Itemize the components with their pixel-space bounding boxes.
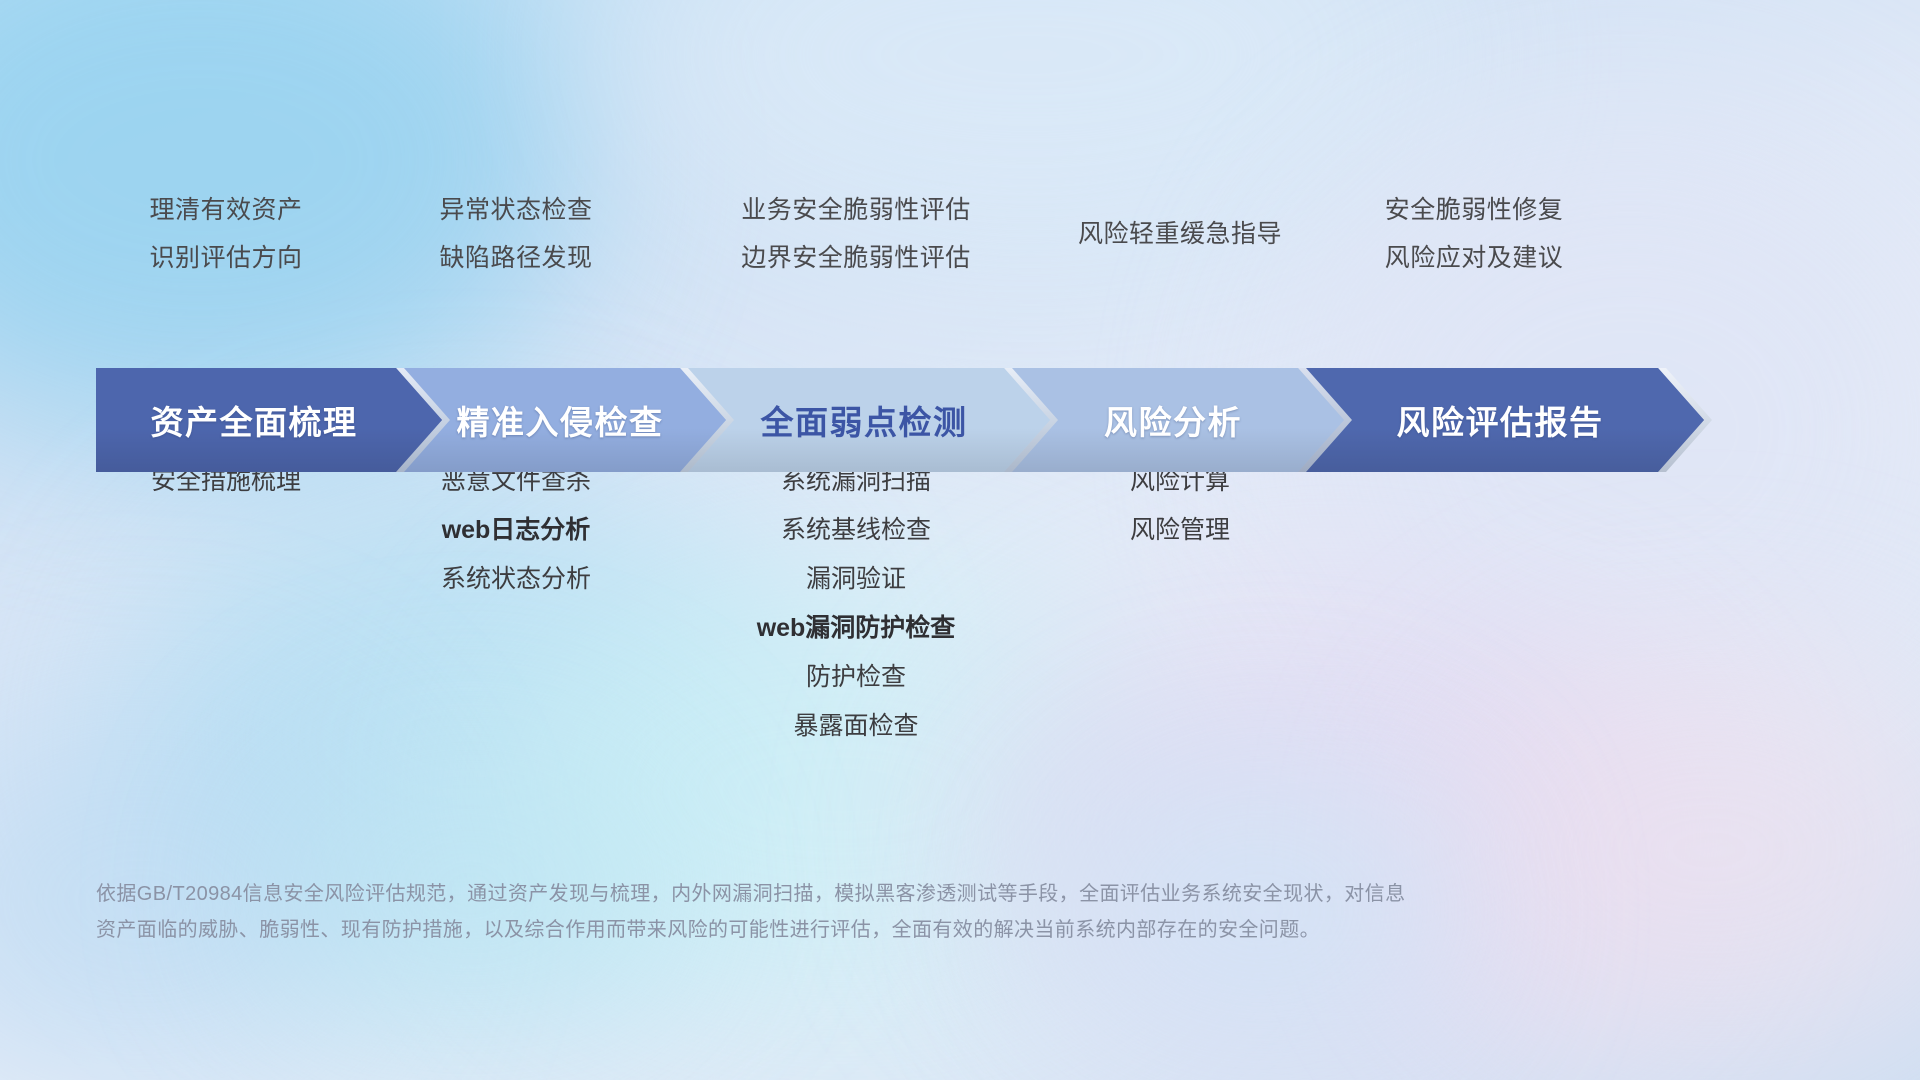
stage-chevron-label: 资产全面梳理 — [96, 368, 442, 472]
process-flow-diagram: 理清有效资产识别评估方向异常状态检查缺陷路径发现业务安全脆弱性评估边界安全脆弱性… — [0, 0, 1920, 1080]
top-annotation-line: 安全脆弱性修复 — [1254, 186, 1694, 234]
top-annotations-row: 理清有效资产识别评估方向异常状态检查缺陷路径发现业务安全脆弱性评估边界安全脆弱性… — [0, 186, 1920, 296]
stage-chevron-1[interactable]: 资产全面梳理 — [96, 368, 442, 472]
footer-description: 依据GB/T20984信息安全风险评估规范，通过资产发现与梳理，内外网漏洞扫描，… — [96, 876, 1626, 948]
top-annotation-line: 风险应对及建议 — [1254, 234, 1694, 282]
footer-line-2: 资产面临的威胁、脆弱性、现有防护措施，以及综合作用而带来风险的可能性进行评估，全… — [96, 912, 1626, 948]
stage-detail-item: 风险管理 — [950, 506, 1410, 555]
stage-chevron-label: 风险评估报告 — [1292, 368, 1704, 472]
stage-chevron-band: 资产全面梳理精准入侵检查全面弱点检测风险分析风险评估报告 — [0, 368, 1920, 472]
stage-detail-item: 防护检查 — [626, 653, 1086, 702]
stage-detail-item: 暴露面检查 — [626, 702, 1086, 751]
stage-chevron-5[interactable]: 风险评估报告 — [1292, 368, 1704, 472]
footer-line-1: 依据GB/T20984信息安全风险评估规范，通过资产发现与梳理，内外网漏洞扫描，… — [96, 876, 1626, 912]
top-annotation-column: 安全脆弱性修复风险应对及建议 — [1254, 186, 1694, 282]
stage-detail-item: web漏洞防护检查 — [626, 604, 1086, 653]
stage-detail-item: 漏洞验证 — [626, 555, 1086, 604]
